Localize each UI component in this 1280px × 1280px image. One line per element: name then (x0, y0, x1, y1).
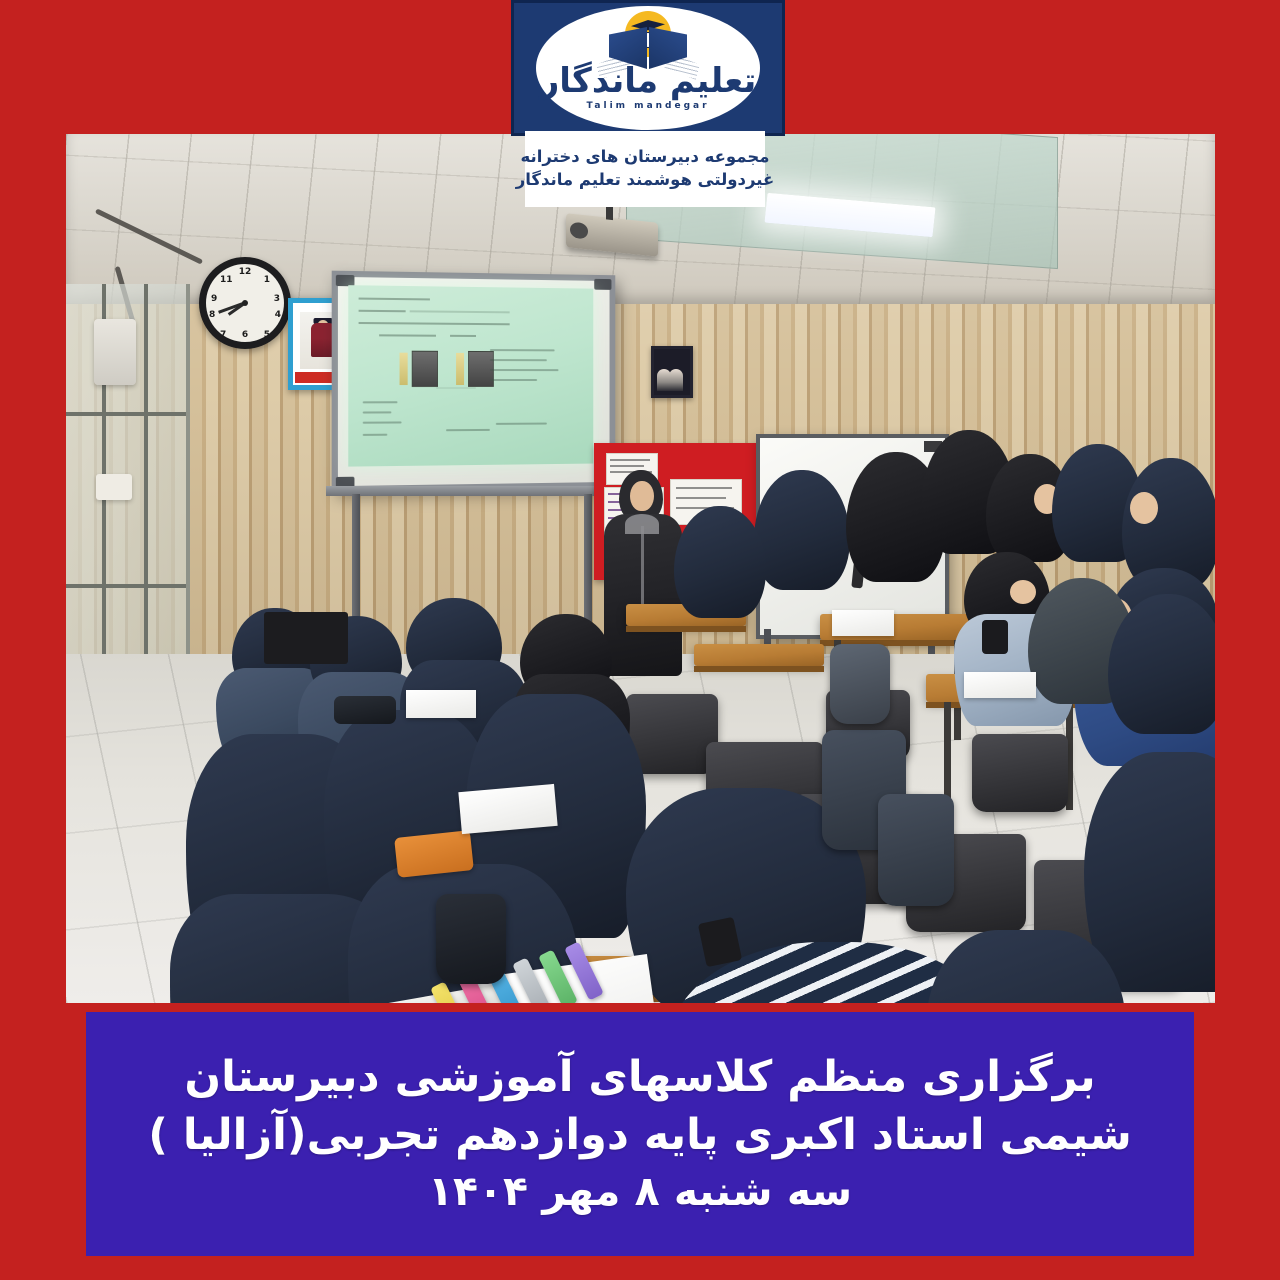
desk (694, 644, 824, 666)
wall-utility-box (96, 474, 132, 500)
classroom-photo: 12 3 6 9 1 4 5 7 8 11 (66, 134, 1215, 1003)
wall-portrait-frame (651, 346, 693, 398)
worksheet (406, 690, 476, 718)
phone (982, 620, 1008, 654)
logo-card: تعلیم ماندگار Talim mandegar (511, 0, 785, 136)
student (754, 470, 850, 590)
laptop (264, 612, 348, 664)
logo-brand-latin: Talim mandegar (536, 101, 760, 111)
school-logo-block: تعلیم ماندگار Talim mandegar مجموعه دبیر… (511, 0, 779, 220)
whiteboard-tray (326, 486, 603, 496)
logo-brand-fa: تعلیم ماندگار (536, 64, 760, 98)
backpack (436, 894, 506, 984)
logo-subtitle-panel: مجموعه دبیرستان های دخترانه غیردولتی هوش… (525, 131, 765, 207)
chair (972, 734, 1068, 812)
pencil-case (334, 696, 396, 724)
worksheet (832, 610, 894, 636)
poster-root: 12 3 6 9 1 4 5 7 8 11 (0, 0, 1280, 1280)
wall-clock: 12 3 6 9 1 4 5 7 8 11 (199, 257, 291, 349)
caption-banner: برگزاری منظم کلاسهای آموزشی دبیرستان شیم… (86, 1012, 1194, 1256)
caption-line-1: برگزاری منظم کلاسهای آموزشی دبیرستان (184, 1049, 1095, 1107)
worksheet (458, 784, 557, 834)
student (926, 930, 1126, 1003)
logo-oval-backdrop: تعلیم ماندگار Talim mandegar (536, 6, 760, 130)
logo-subtitle-line-1: مجموعه دبیرستان های دخترانه (521, 147, 770, 168)
backpack (878, 794, 954, 906)
wall-ac-unit (94, 319, 136, 385)
whiteboard-with-projection (332, 271, 616, 493)
caption-line-2: شیمی استاد اکبری پایه دوازدهم تجربی(آزال… (148, 1107, 1132, 1165)
student (674, 506, 766, 618)
whiteboard-leg-left (352, 494, 360, 624)
worksheet (964, 672, 1036, 698)
pencil-pouch (394, 830, 474, 878)
backpack (830, 644, 890, 724)
logo-subtitle-line-2: غیردولتی هوشمند تعلیم ماندگار (516, 170, 775, 191)
student (1108, 594, 1215, 734)
caption-line-3-date: سه شنبه ۸ مهر ۱۴۰۴ (428, 1164, 852, 1219)
projected-slide (348, 285, 593, 466)
whiteboard-leg-right (584, 494, 592, 624)
